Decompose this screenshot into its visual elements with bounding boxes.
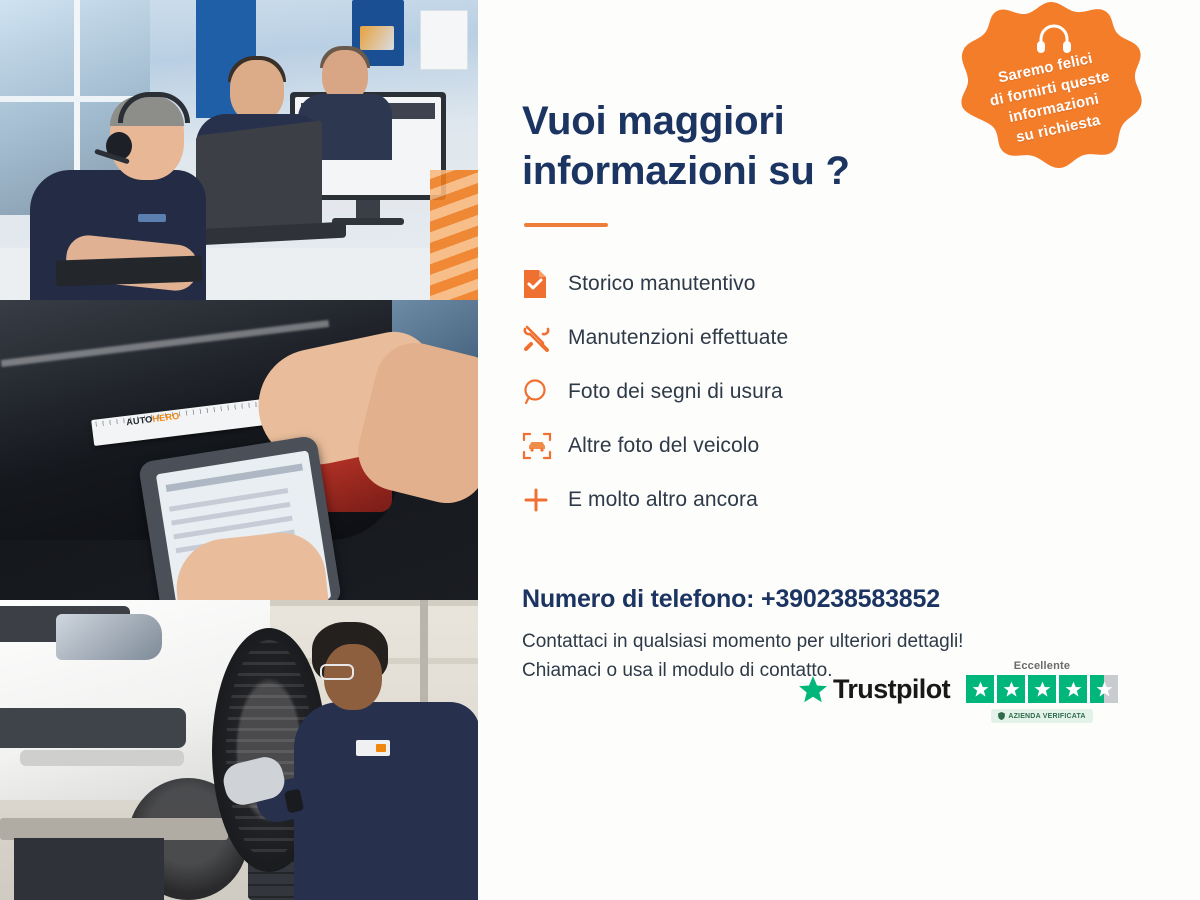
- star-2: [997, 675, 1025, 703]
- title-divider: [524, 223, 608, 227]
- vehicle-inspection-photo: AUTOHERO: [0, 300, 478, 600]
- headset-icon: [1036, 22, 1072, 56]
- star-4: [1059, 675, 1087, 703]
- car-scan-icon: [522, 431, 568, 461]
- star-rating: [966, 675, 1118, 703]
- info-panel: Vuoi maggiori informazioni su ? Storico …: [478, 0, 1200, 900]
- verified-label: AZIENDA VERIFICATA: [1008, 713, 1085, 720]
- feature-label: Foto dei segni di usura: [568, 380, 783, 404]
- rating-word: Eccellente: [966, 660, 1118, 672]
- photo-strip: AUTOHERO: [0, 0, 478, 900]
- star-5-half: [1090, 675, 1118, 703]
- document-check-icon: [522, 269, 568, 299]
- trustpilot-star-icon: [798, 675, 828, 705]
- trustpilot-rating: Eccellente: [966, 660, 1118, 725]
- list-item: Altre foto del veicolo: [522, 419, 1200, 473]
- list-item: Manutenzioni effettuate: [522, 311, 1200, 365]
- page-title: Vuoi maggiori informazioni su ?: [522, 96, 952, 197]
- contact-line-1: Contattaci in qualsiasi momento per ulte…: [522, 631, 963, 652]
- trustpilot-widget[interactable]: Trustpilot Eccellente: [798, 660, 1118, 725]
- trustpilot-wordmark: Trustpilot: [833, 674, 950, 705]
- feature-label: E molto altro ancora: [568, 488, 758, 512]
- plus-icon: [522, 486, 568, 514]
- feature-label: Manutenzioni effettuate: [568, 326, 788, 350]
- call-center-agents-photo: [0, 0, 478, 300]
- tools-cross-icon: [522, 323, 568, 353]
- verified-company-badge: AZIENDA VERIFICATA: [991, 709, 1092, 723]
- headline-line-1: Vuoi maggiori: [522, 99, 785, 143]
- headline-line-2: informazioni su ?: [522, 149, 850, 193]
- feature-label: Altre foto del veicolo: [568, 434, 759, 458]
- star-3: [1028, 675, 1056, 703]
- magnifier-icon: [522, 378, 568, 406]
- phone-number: Numero di telefono: +390238583852: [522, 585, 1200, 614]
- trustpilot-logo: Trustpilot: [798, 674, 950, 705]
- star-1: [966, 675, 994, 703]
- list-item: E molto altro ancora: [522, 473, 1200, 527]
- workshop-wheel-photo: [0, 600, 478, 900]
- feature-list: Storico manutentivo Manut: [522, 257, 1200, 527]
- list-item: Foto dei segni di usura: [522, 365, 1200, 419]
- feature-label: Storico manutentivo: [568, 272, 756, 296]
- shield-icon: [998, 712, 1005, 720]
- contact-line-2: Chiamaci o usa il modulo di contatto.: [522, 660, 833, 681]
- callout-badge: Saremo felici di fornirti queste informa…: [958, 0, 1144, 196]
- contact-info-banner: AUTOHERO Vuoi maggiori informazioni su ?: [0, 0, 1200, 900]
- list-item: Storico manutentivo: [522, 257, 1200, 311]
